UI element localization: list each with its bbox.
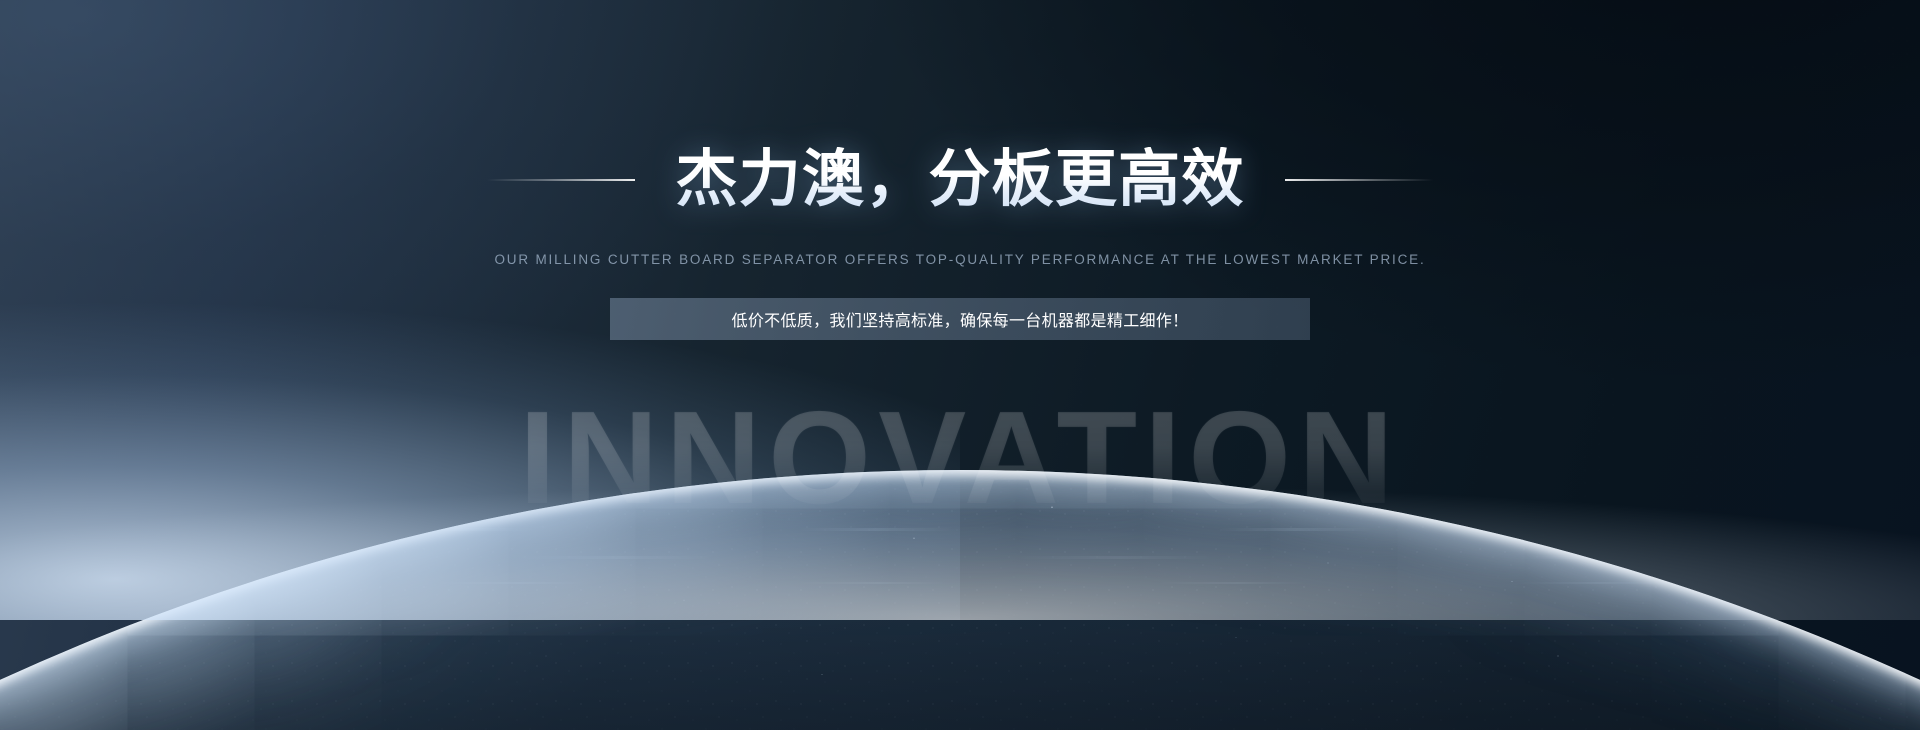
decorative-rule-left-icon: [487, 179, 635, 181]
tagline-banner: 低价不低质，我们坚持高标准，确保每一台机器都是精工细作！: [610, 298, 1310, 340]
city-lights-streaks: [0, 470, 1920, 730]
planet-horizon: [0, 470, 1920, 730]
decorative-rule-right-icon: [1285, 179, 1433, 181]
page-title: 杰力澳，分板更高效: [675, 147, 1244, 212]
title-row: 杰力澳，分板更高效: [0, 140, 1920, 220]
planet-surface: [0, 470, 1920, 730]
hero-banner: INNOVATION 杰力澳，分板更高效 OUR MILLING CUTTER …: [0, 0, 1920, 730]
tagline-container: 低价不低质，我们坚持高标准，确保每一台机器都是精工细作！: [0, 298, 1920, 340]
hero-subtitle: OUR MILLING CUTTER BOARD SEPARATOR OFFER…: [0, 252, 1920, 267]
